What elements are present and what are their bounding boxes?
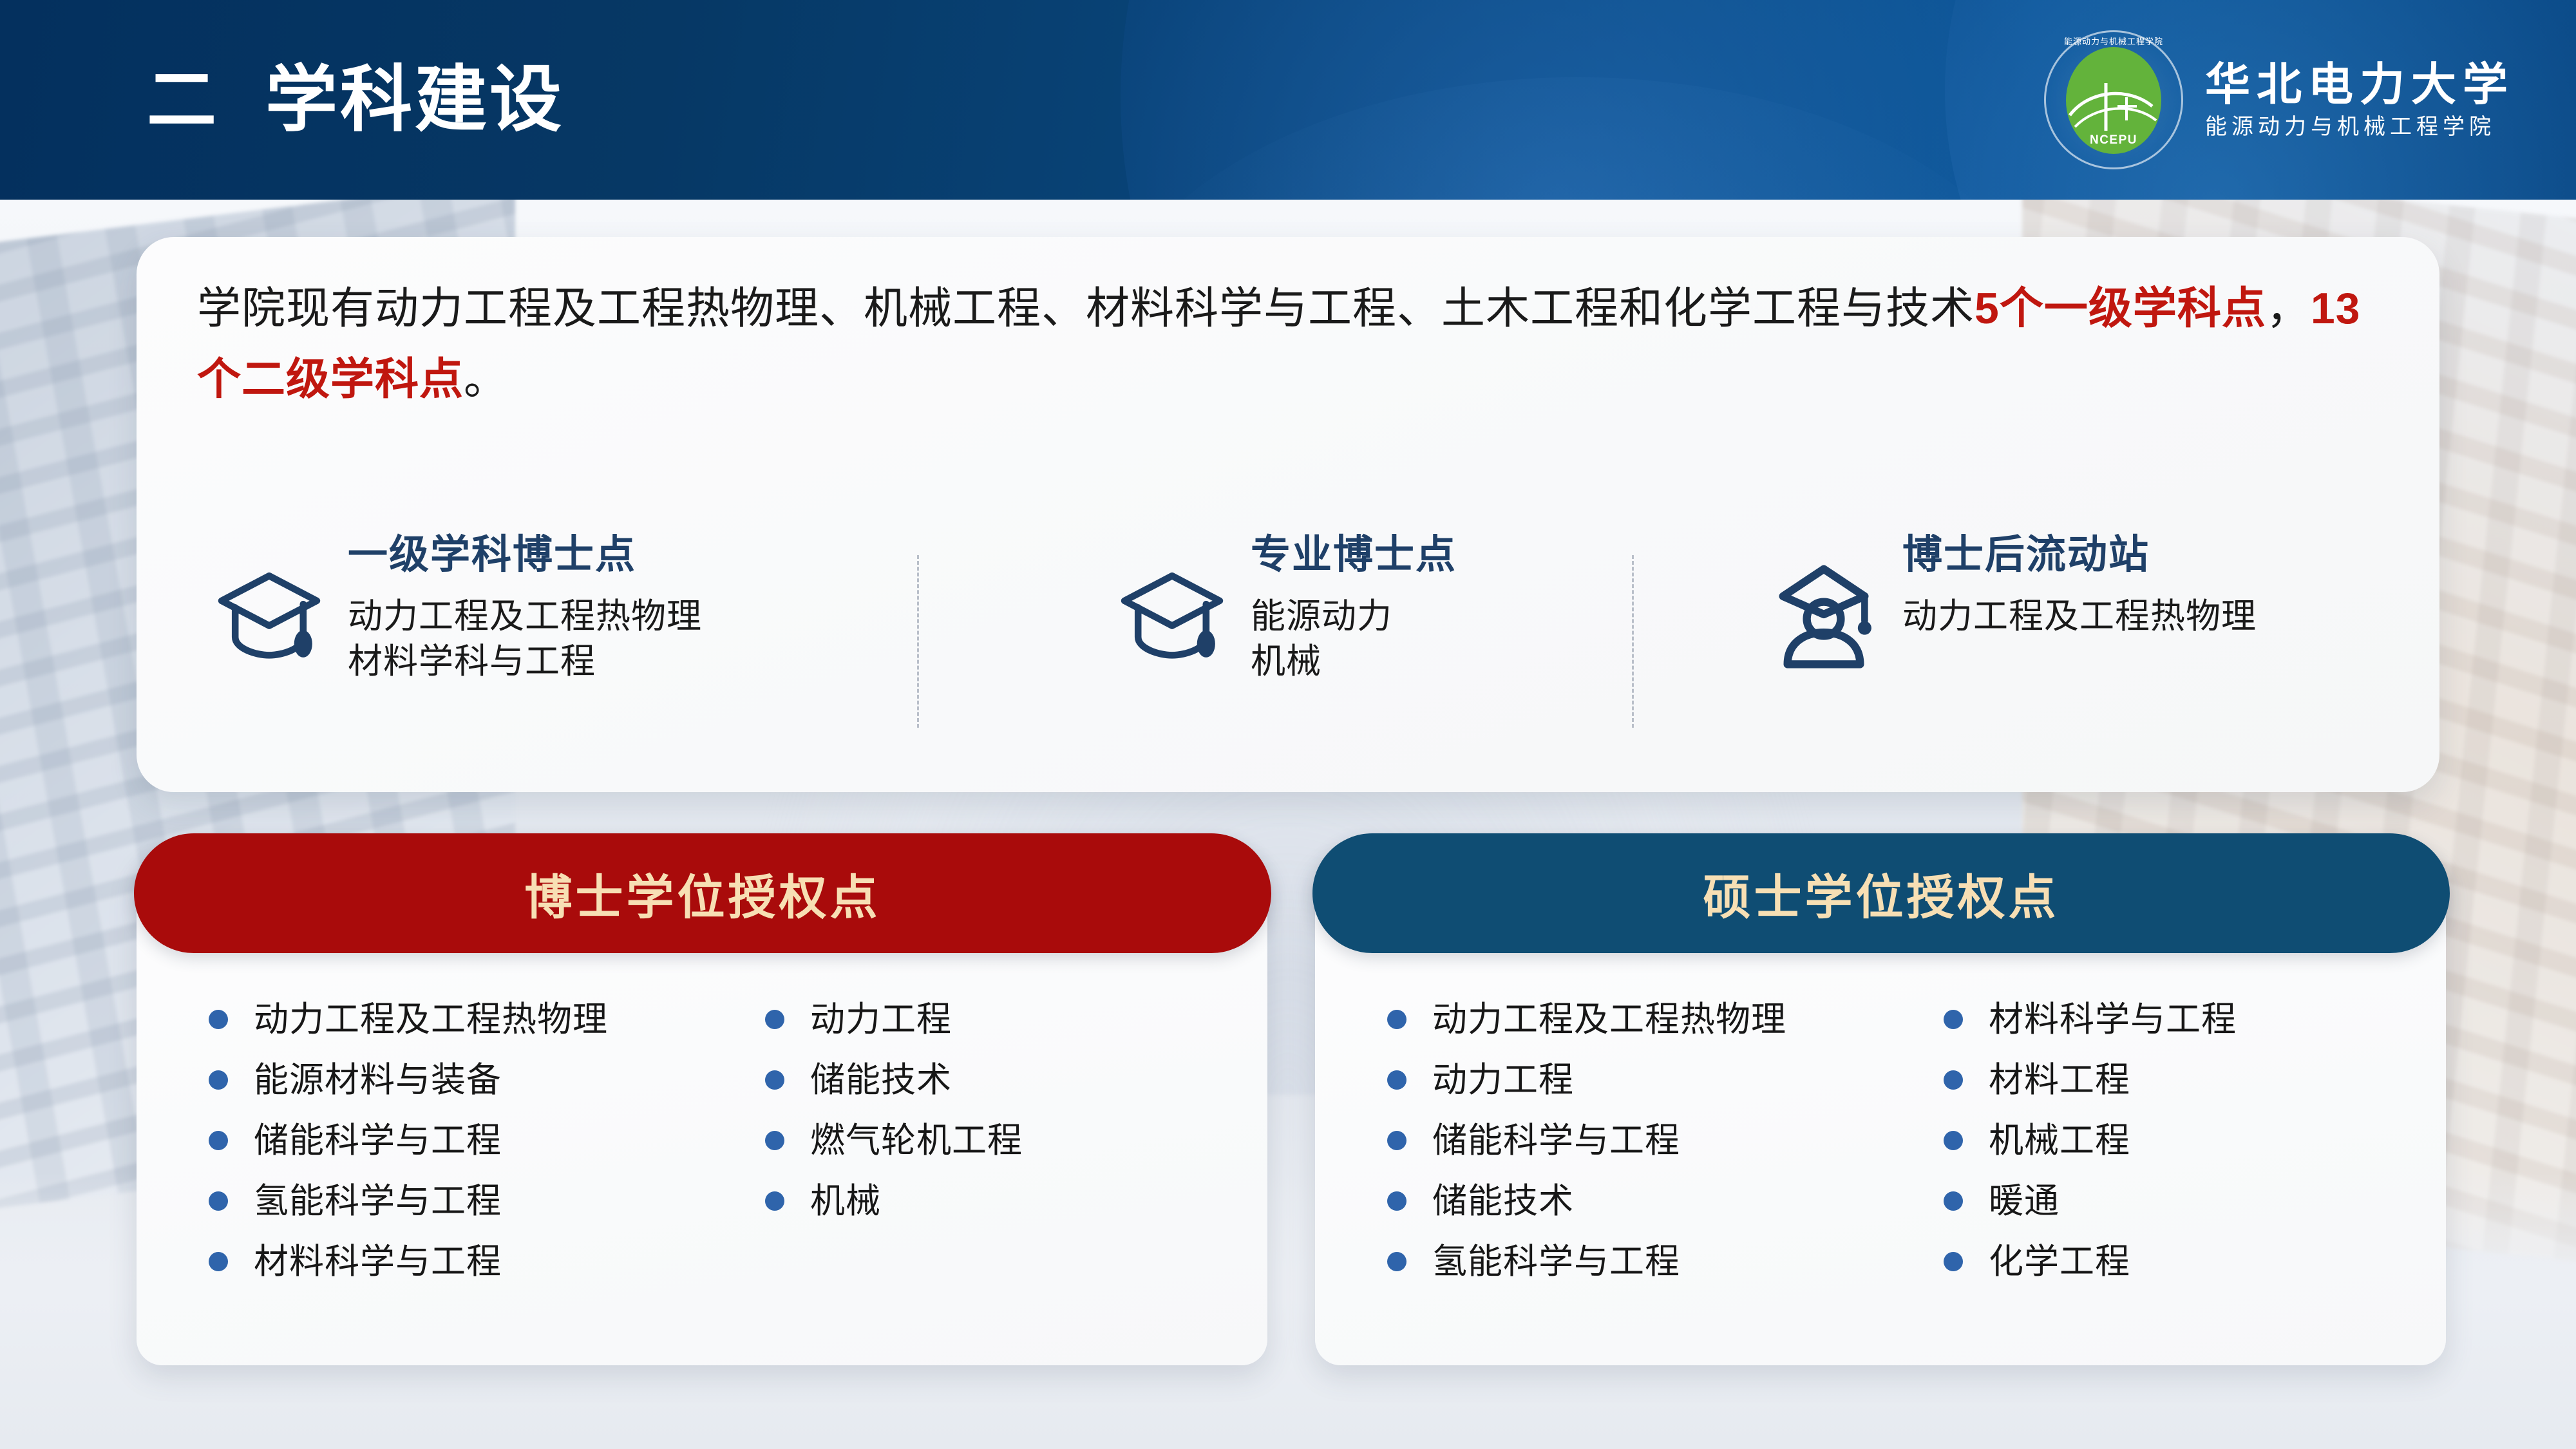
- section-number: 二: [147, 65, 218, 135]
- degree-point-1-title: 一级学科博士点: [348, 533, 702, 577]
- list-item: 氢能科学与工程: [1387, 1231, 1920, 1292]
- master-card-columns: 动力工程及工程热物理 动力工程 储能科学与工程 储能技术 氢能科学与工程: [1315, 983, 2446, 1365]
- list-item: 储能科学与工程: [209, 1110, 742, 1171]
- list-item: 化学工程: [1944, 1231, 2446, 1292]
- bullet-dot-icon: [1387, 1191, 1406, 1211]
- bullet-dot-icon: [209, 1191, 228, 1211]
- overview-paragraph: 学院现有动力工程及工程热物理、机械工程、材料科学与工程、土木工程和化学工程与技术…: [197, 273, 2388, 415]
- degree-point-2-line-2: 机械: [1251, 639, 1457, 684]
- doctoral-column-b: 动力工程 储能技术 燃气轮机工程 机械: [742, 983, 1267, 1365]
- bullet-dot-icon: [765, 1070, 784, 1090]
- degree-point-1: 一级学科博士点 动力工程及工程热物理 材料学科与工程: [137, 515, 967, 755]
- list-item: 动力工程: [1387, 1050, 1920, 1110]
- degree-point-2-line-1: 能源动力: [1251, 594, 1457, 639]
- bullet-dot-icon: [1944, 1131, 1963, 1150]
- overview-highlight-1: 5个一级学科点: [1975, 284, 2266, 333]
- list-item: 动力工程及工程热物理: [209, 989, 742, 1050]
- list-item-label: 动力工程: [1432, 1063, 1574, 1097]
- doctoral-card-columns: 动力工程及工程热物理 能源材料与装备 储能科学与工程 氢能科学与工程 材料科学与…: [137, 983, 1267, 1365]
- degree-point-3: 博士后流动站 动力工程及工程热物理: [1689, 515, 2436, 755]
- list-item-label: 化学工程: [1989, 1244, 2130, 1279]
- master-column-a: 动力工程及工程热物理 动力工程 储能科学与工程 储能技术 氢能科学与工程: [1315, 983, 1920, 1365]
- degree-point-2: 专业博士点 能源动力 机械: [967, 515, 1689, 755]
- degree-point-3-body: 博士后流动站 动力工程及工程热物理: [1902, 528, 2257, 639]
- bullet-dot-icon: [1387, 1131, 1406, 1150]
- list-item-label: 动力工程: [810, 1002, 952, 1037]
- list-item-label: 材料工程: [1989, 1063, 2130, 1097]
- bullet-dot-icon: [1944, 1070, 1963, 1090]
- list-item: 储能技术: [1387, 1171, 1920, 1231]
- page-title: 学科建设: [265, 64, 564, 136]
- seal-abbreviation: NCEPU: [2044, 133, 2183, 147]
- list-item-label: 动力工程及工程热物理: [254, 1002, 608, 1037]
- master-card-header: 硕士学位授权点: [1312, 833, 2450, 953]
- bullet-dot-icon: [209, 1131, 228, 1150]
- bullet-dot-icon: [1387, 1252, 1406, 1271]
- list-item: 储能科学与工程: [1387, 1110, 1920, 1171]
- master-column-b: 材料科学与工程 材料工程 机械工程 暖通 化学工程: [1920, 983, 2446, 1365]
- doctoral-card-title: 博士学位授权点: [525, 859, 881, 928]
- seal-top-text: 能源动力与机械工程学院: [2044, 35, 2183, 47]
- overview-text-before: 学院现有动力工程及工程热物理、机械工程、材料科学与工程、土木工程和化学工程与技术: [197, 284, 1975, 333]
- list-item: 材料工程: [1944, 1050, 2446, 1110]
- graduation-cap-icon: [213, 558, 326, 671]
- doctoral-degree-card: 博士学位授权点 动力工程及工程热物理 能源材料与装备 储能科学与工程 氢: [137, 857, 1267, 1365]
- doctoral-card-header: 博士学位授权点: [134, 833, 1271, 953]
- overview-card: 学院现有动力工程及工程热物理、机械工程、材料科学与工程、土木工程和化学工程与技术…: [137, 237, 2439, 792]
- page-title-group: 二 学科建设: [147, 0, 564, 200]
- school-name: 能源动力与机械工程学院: [2205, 116, 2514, 138]
- doctoral-column-a: 动力工程及工程热物理 能源材料与装备 储能科学与工程 氢能科学与工程 材料科学与…: [137, 983, 742, 1365]
- list-item-label: 储能科学与工程: [1432, 1123, 1680, 1158]
- list-item-label: 氢能科学与工程: [254, 1184, 502, 1218]
- degree-point-1-body: 一级学科博士点 动力工程及工程热物理 材料学科与工程: [348, 528, 702, 685]
- degree-points-row: 一级学科博士点 动力工程及工程热物理 材料学科与工程 专业博士点 能源动力 机械: [137, 515, 2439, 755]
- degree-point-2-title: 专业博士点: [1251, 533, 1457, 577]
- degree-point-3-title: 博士后流动站: [1902, 533, 2257, 577]
- university-brand: 能源动力与机械工程学院 NCEPU 华北电力大学 能源动力与机械工程学院: [2044, 0, 2514, 200]
- overview-text-after: 。: [464, 355, 508, 404]
- bullet-dot-icon: [765, 1131, 784, 1150]
- bullet-dot-icon: [209, 1070, 228, 1090]
- list-item-label: 暖通: [1989, 1184, 2060, 1218]
- list-item: 动力工程: [765, 989, 1267, 1050]
- list-item: 机械工程: [1944, 1110, 2446, 1171]
- bullet-dot-icon: [1944, 1252, 1963, 1271]
- list-item-label: 能源材料与装备: [254, 1063, 502, 1097]
- list-item: 机械: [765, 1171, 1267, 1231]
- list-item: 燃气轮机工程: [765, 1110, 1267, 1171]
- list-item-label: 储能技术: [810, 1063, 952, 1097]
- list-item-label: 储能科学与工程: [254, 1123, 502, 1158]
- list-item-label: 燃气轮机工程: [810, 1123, 1023, 1158]
- seal-swoosh-icon: [2067, 78, 2160, 137]
- list-item: 动力工程及工程热物理: [1387, 989, 1920, 1050]
- graduation-cap-icon: [1115, 558, 1229, 671]
- bullet-dot-icon: [765, 1191, 784, 1211]
- degree-point-1-line-1: 动力工程及工程热物理: [348, 594, 702, 639]
- bullet-dot-icon: [209, 1252, 228, 1271]
- bullet-dot-icon: [209, 1010, 228, 1029]
- list-item-label: 材料科学与工程: [1989, 1002, 2237, 1037]
- list-item: 暖通: [1944, 1171, 2446, 1231]
- overview-separator: ，: [2266, 284, 2311, 333]
- university-name: 华北电力大学: [2205, 62, 2514, 107]
- university-seal-icon: 能源动力与机械工程学院 NCEPU: [2044, 30, 2183, 169]
- bullet-dot-icon: [765, 1010, 784, 1029]
- list-item: 氢能科学与工程: [209, 1171, 742, 1231]
- bullet-dot-icon: [1944, 1010, 1963, 1029]
- degree-point-2-body: 专业博士点 能源动力 机械: [1251, 528, 1457, 685]
- graduate-person-icon: [1767, 558, 1880, 671]
- bullet-dot-icon: [1944, 1191, 1963, 1211]
- degree-point-3-line-1: 动力工程及工程热物理: [1902, 594, 2257, 639]
- list-item: 储能技术: [765, 1050, 1267, 1110]
- master-degree-card: 硕士学位授权点 动力工程及工程热物理 动力工程 储能科学与工程 储能技术: [1315, 857, 2446, 1365]
- master-card-title: 硕士学位授权点: [1703, 859, 2060, 928]
- list-item: 能源材料与装备: [209, 1050, 742, 1110]
- list-item-label: 氢能科学与工程: [1432, 1244, 1680, 1279]
- list-item: 材料科学与工程: [1944, 989, 2446, 1050]
- slide-root: 二 学科建设 能源动力与机械工程学院 NCEPU 华北电力大学: [0, 0, 2576, 1449]
- list-item-label: 储能技术: [1432, 1184, 1574, 1218]
- bullet-dot-icon: [1387, 1010, 1406, 1029]
- brand-text-block: 华北电力大学 能源动力与机械工程学院: [2205, 62, 2514, 138]
- list-item-label: 机械: [810, 1184, 881, 1218]
- list-item: 材料科学与工程: [209, 1231, 742, 1292]
- slide-header: 二 学科建设 能源动力与机械工程学院 NCEPU 华北电力大学: [0, 0, 2576, 200]
- list-item-label: 材料科学与工程: [254, 1244, 502, 1279]
- bullet-dot-icon: [1387, 1070, 1406, 1090]
- list-item-label: 机械工程: [1989, 1123, 2130, 1158]
- list-item-label: 动力工程及工程热物理: [1432, 1002, 1786, 1037]
- degree-point-1-line-2: 材料学科与工程: [348, 639, 702, 684]
